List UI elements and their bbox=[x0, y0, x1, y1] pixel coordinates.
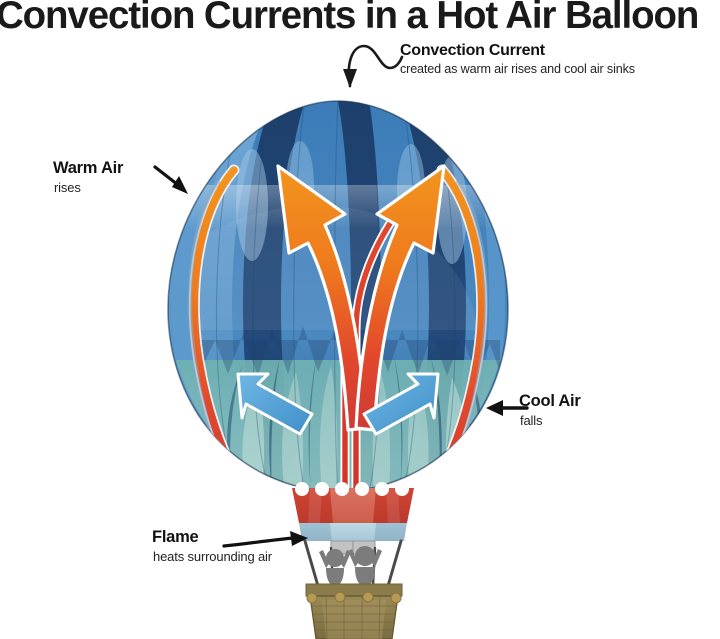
callout-warm-air: Warm Air rises bbox=[53, 159, 123, 196]
callout-flame: Flame heats surrounding air bbox=[152, 528, 272, 565]
warm-air-heading: Warm Air bbox=[53, 159, 123, 177]
convection-current-pointer-icon bbox=[330, 38, 410, 90]
convection-current-subtext: created as warm air rises and cool air s… bbox=[400, 62, 635, 77]
convection-current-heading: Convection Current bbox=[400, 42, 635, 60]
basket bbox=[306, 584, 402, 639]
cool-air-subtext: falls bbox=[520, 413, 581, 429]
callout-cool-air: Cool Air falls bbox=[519, 392, 581, 429]
diagram-canvas: Convection Currents in a Hot Air Balloon bbox=[0, 0, 720, 639]
callout-convection-current: Convection Current created as warm air r… bbox=[400, 42, 635, 77]
flame-heading: Flame bbox=[152, 528, 272, 546]
passengers bbox=[319, 546, 382, 586]
flame-subtext: heats surrounding air bbox=[153, 549, 272, 565]
balloon-illustration bbox=[0, 0, 720, 639]
cool-air-heading: Cool Air bbox=[519, 392, 581, 410]
warm-air-subtext: rises bbox=[54, 180, 123, 196]
warm-air-pointer-icon bbox=[152, 163, 200, 201]
